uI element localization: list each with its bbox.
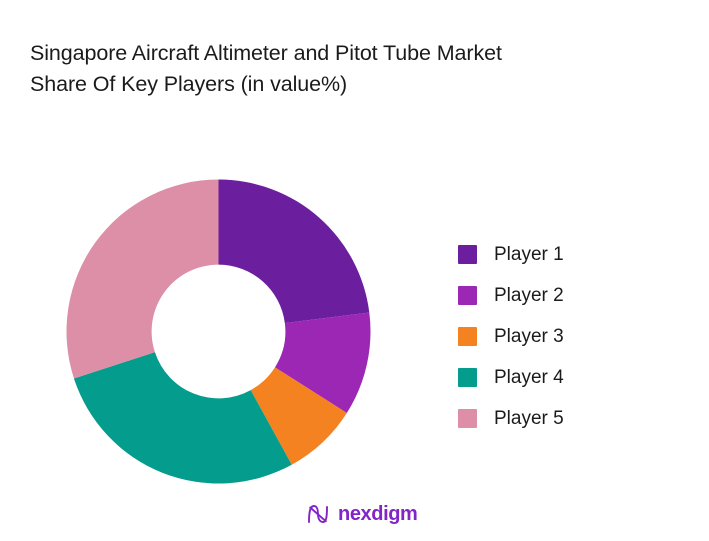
legend-label: Player 1: [494, 245, 564, 264]
legend-swatch: [458, 327, 477, 346]
legend-swatch: [458, 286, 477, 305]
donut-chart: [66, 179, 371, 484]
donut-chart-svg: [66, 179, 371, 484]
chart-page: Singapore Aircraft Altimeter and Pitot T…: [0, 0, 709, 541]
legend-item[interactable]: Player 2: [458, 275, 668, 316]
wave-n-icon: [305, 501, 331, 527]
donut-slice[interactable]: [74, 352, 292, 483]
legend-swatch: [458, 409, 477, 428]
legend-swatch: [458, 368, 477, 387]
legend-item[interactable]: Player 5: [458, 398, 668, 439]
brand-name: nexdigm: [338, 504, 417, 524]
legend-item[interactable]: Player 1: [458, 234, 668, 275]
page-title: Singapore Aircraft Altimeter and Pitot T…: [30, 38, 660, 100]
legend-label: Player 3: [494, 327, 564, 346]
legend-label: Player 5: [494, 409, 564, 428]
chart-legend: Player 1Player 2Player 3Player 4Player 5: [458, 234, 668, 439]
legend-item[interactable]: Player 3: [458, 316, 668, 357]
donut-slice-group: [66, 180, 370, 484]
legend-swatch: [458, 245, 477, 264]
brand-logo: nexdigm: [305, 500, 417, 528]
legend-label: Player 2: [494, 286, 564, 305]
donut-slice[interactable]: [219, 180, 370, 324]
donut-slice[interactable]: [66, 180, 218, 379]
legend-label: Player 4: [494, 368, 564, 387]
legend-item[interactable]: Player 4: [458, 357, 668, 398]
